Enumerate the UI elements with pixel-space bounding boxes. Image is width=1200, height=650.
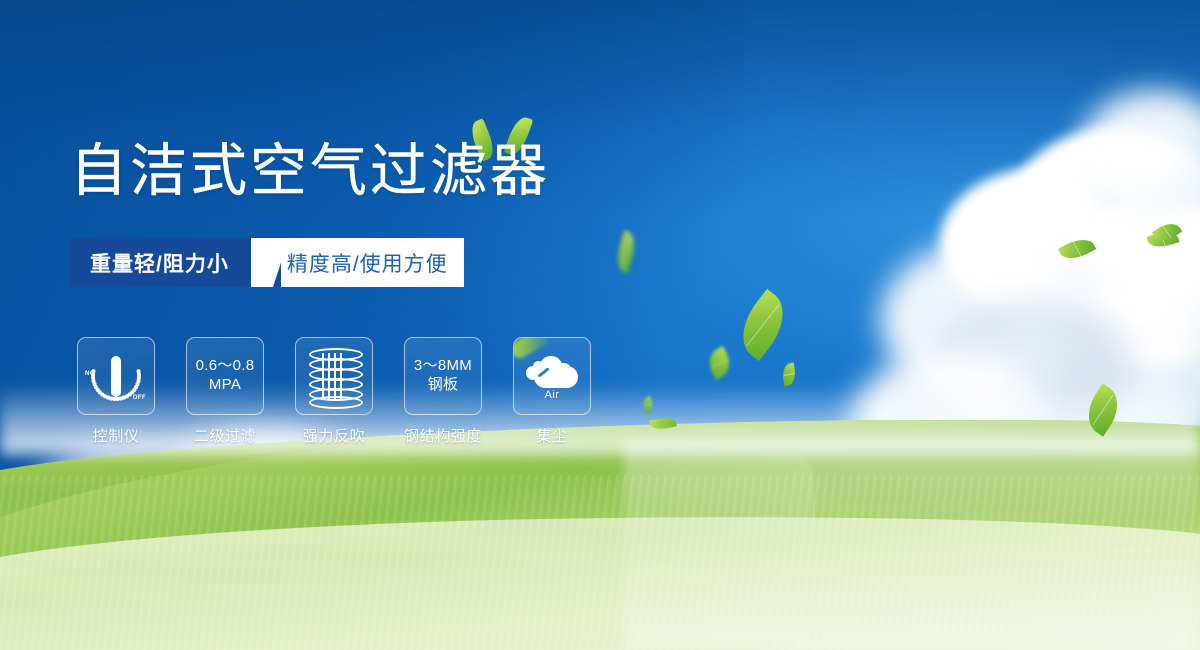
feature-icon-box: 0.6～0.8 MPA (186, 337, 264, 415)
pressure-text-icon: 0.6～0.8 MPA (196, 357, 255, 394)
feature-icon-box (295, 337, 373, 415)
feature-label: 强力反吹 (303, 425, 365, 446)
page-title: 自洁式空气过滤器 (70, 143, 550, 200)
air-label: Air (545, 389, 560, 401)
feature-icon-box: NO OFF (77, 337, 155, 415)
feature-item[interactable]: Air 集尘 (514, 337, 590, 446)
filter-stack-icon (309, 348, 359, 404)
feature-label: 二级过滤 (194, 425, 256, 446)
gauge-tick (133, 388, 136, 391)
feature-item[interactable]: 0.6～0.8 MPA 二级过滤 (187, 337, 263, 446)
feature-list: NO OFF 控制仪 0.6～0.8 MPA 二级过滤 (78, 337, 590, 446)
gauge-icon: NO OFF (85, 347, 147, 405)
subtitle-left-text: 重量轻/阻力小 (90, 248, 229, 278)
feature-item[interactable]: 强力反吹 (296, 337, 372, 446)
subtitle-bar: 重量轻/阻力小 精度高/使用方便 (70, 238, 463, 287)
hero-banner: 自洁式空气过滤器 重量轻/阻力小 精度高/使用方便 NO OFF 控制仪 (0, 0, 1200, 650)
feature-item[interactable]: NO OFF 控制仪 (78, 337, 154, 446)
feature-label: 集尘 (536, 425, 567, 446)
feature-icon-box: Air (513, 337, 591, 415)
gauge-tick (137, 379, 140, 382)
grass-haze (624, 440, 1200, 650)
gauge-tick (137, 373, 140, 376)
subtitle-divider (251, 238, 281, 287)
gauge-tick (137, 376, 140, 379)
feature-icon-box: 3～8MM 钢板 (404, 337, 482, 415)
subtitle-right: 精度高/使用方便 (281, 238, 464, 287)
gauge-needle (111, 356, 121, 397)
subtitle-right-text: 精度高/使用方便 (287, 248, 448, 278)
feature-label: 控制仪 (93, 425, 140, 446)
feature-label: 钢结构强度 (404, 425, 482, 446)
subtitle-left: 重量轻/阻力小 (70, 238, 251, 287)
grass-field (0, 420, 1200, 650)
gauge-tick (134, 385, 137, 388)
steel-text-icon: 3～8MM 钢板 (414, 357, 472, 394)
feature-item[interactable]: 3～8MM 钢板 钢结构强度 (405, 337, 481, 446)
cloud-air-icon (524, 350, 580, 388)
filter-ring (309, 396, 363, 409)
gauge-off-label: OFF (133, 395, 146, 401)
gauge-tick (136, 382, 139, 385)
